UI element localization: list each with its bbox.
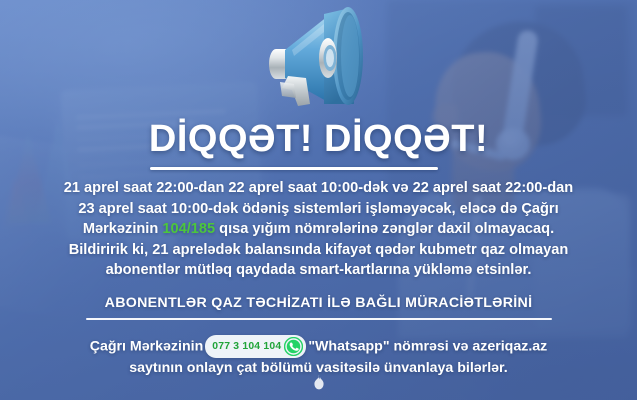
footer-middle: "Whatsapp" nömrəsi və azeriqaz.az bbox=[308, 338, 547, 354]
announcement-body: 21 aprel saat 22:00-dan 22 aprel saat 10… bbox=[18, 178, 619, 281]
whatsapp-phone-chip[interactable]: 077 3 104 104 bbox=[205, 335, 306, 358]
flame-icon bbox=[0, 374, 637, 396]
phone-number: 077 3 104 104 bbox=[212, 336, 281, 357]
title-underline bbox=[150, 167, 438, 170]
body-line-3-post: qısa yığım nömrələrinə zənglər daxil olm… bbox=[215, 221, 554, 237]
short-numbers-highlight: 104/185 bbox=[162, 221, 215, 237]
body-line-2: 23 aprel saat 10:00-dək ödəniş sistemlər… bbox=[78, 201, 558, 217]
subtitle: ABONENTLƏR QAZ TƏCHİZATI İLƏ BAĞLI MÜRAC… bbox=[0, 295, 637, 311]
footer-prefix: Çağrı Mərkəzinin bbox=[90, 338, 204, 354]
body-line-1: 21 aprel saat 22:00-dan 22 aprel saat 10… bbox=[64, 180, 573, 196]
subtitle-underline bbox=[86, 318, 552, 320]
megaphone-icon bbox=[258, 6, 366, 110]
body-line-4: Bildiririk ki, 21 aprelədək balansında k… bbox=[69, 242, 569, 258]
body-line-3-pre: Mərkəzinin bbox=[83, 221, 162, 237]
whatsapp-icon bbox=[284, 337, 303, 356]
announcement-banner: DİQQƏT! DİQQƏT! 21 aprel saat 22:00-dan … bbox=[0, 0, 637, 400]
body-line-5: abonentlər mütləq qaydada smart-kartları… bbox=[106, 262, 532, 278]
page-title: DİQQƏT! DİQQƏT! bbox=[0, 118, 637, 161]
contact-footer: Çağrı Mərkəzinin077 3 104 104"Whatsapp" … bbox=[18, 335, 619, 379]
